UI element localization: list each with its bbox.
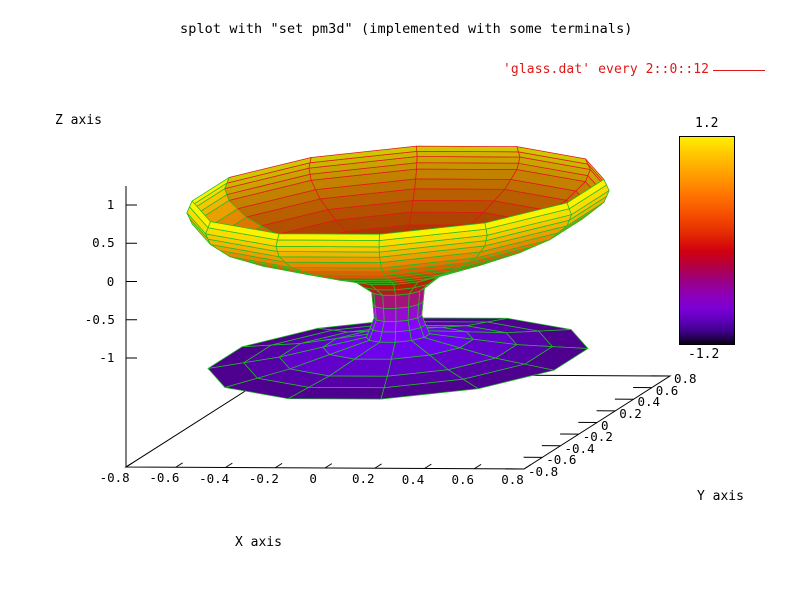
y-tick-label: -0.6 <box>546 454 576 467</box>
z-tick-label: -1 <box>99 352 114 365</box>
surface-quad <box>383 295 396 308</box>
gnuplot-window: splot with "set pm3d" (implemented with … <box>0 0 800 600</box>
surface-quad <box>417 151 520 157</box>
surface-quad <box>396 307 409 321</box>
surface-quad <box>417 146 519 152</box>
x-axis-tick <box>375 464 382 468</box>
x-axis-tick <box>176 463 183 467</box>
x-axis-tick <box>425 464 432 468</box>
surface-quad <box>382 321 396 331</box>
surface-quad <box>285 262 381 268</box>
y-tick-label: 0.6 <box>656 385 679 398</box>
x-axis-tick <box>325 464 332 468</box>
x-axis-label: X axis <box>235 536 282 549</box>
surface-quad <box>417 157 520 164</box>
x-tick-label: -0.2 <box>249 473 279 486</box>
surface-quad <box>380 332 396 342</box>
colorbar-gradient <box>679 136 735 345</box>
y-axis-label: Y axis <box>697 490 744 503</box>
x-tick-label: 0.6 <box>451 474 474 487</box>
surface-quad <box>276 240 379 247</box>
surface-quad <box>375 307 384 322</box>
y-tick-label: -0.2 <box>583 431 613 444</box>
surface-quad <box>415 179 511 189</box>
x-tick-label: 0.4 <box>402 474 425 487</box>
surface-quad <box>396 294 410 309</box>
x-tick-label: 0.2 <box>352 473 375 486</box>
y-tick-label: 0 <box>601 420 609 433</box>
y-tick-label: 0.4 <box>638 396 661 409</box>
x-tick-label: 0.8 <box>501 474 524 487</box>
surface-quad <box>416 169 517 179</box>
z-tick-label: 1 <box>107 199 115 212</box>
surface-mesh <box>187 146 609 399</box>
surface-quad <box>413 189 505 201</box>
surface-quad <box>278 234 380 241</box>
x-tick-label: -0.6 <box>149 472 179 485</box>
y-tick-label: 0.2 <box>619 408 642 421</box>
z-axis-label: Z axis <box>55 114 102 127</box>
y-tick-label: -0.8 <box>528 466 558 479</box>
surface-quad <box>279 257 380 263</box>
z-tick-label: 0 <box>107 276 115 289</box>
colorbar-min-label: -1.2 <box>688 348 719 361</box>
x-tick-label: -0.8 <box>100 472 130 485</box>
surface-quad <box>374 294 384 309</box>
surface-quad <box>417 163 519 170</box>
x-axis-tick <box>226 463 233 467</box>
x-tick-label: 0 <box>309 473 317 486</box>
surface-quad <box>396 320 410 332</box>
x-axis-tick <box>275 463 282 467</box>
surface-quad <box>384 308 396 321</box>
x-axis-tick <box>474 464 481 468</box>
y-tick-label: -0.4 <box>565 443 595 456</box>
surface-quad <box>278 252 380 258</box>
colorbar-max-label: 1.2 <box>695 117 718 130</box>
surface-quad <box>276 246 379 252</box>
surface-quad <box>411 201 494 213</box>
x-tick-label: -0.4 <box>199 473 229 486</box>
z-tick-label: -0.5 <box>85 314 115 327</box>
z-tick-label: 0.5 <box>92 237 115 250</box>
x-axis-tick <box>126 463 133 467</box>
y-tick-label: 0.8 <box>674 373 697 386</box>
